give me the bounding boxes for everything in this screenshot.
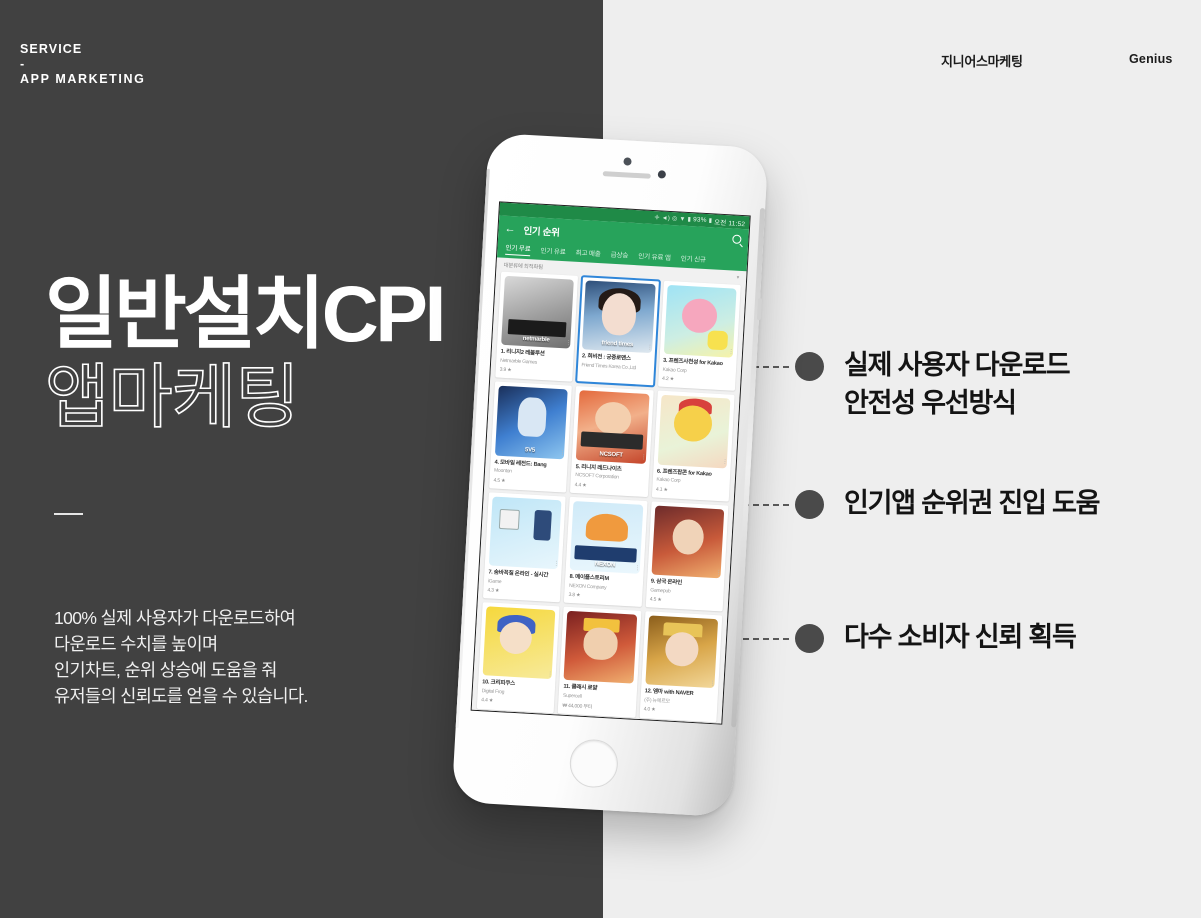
service-sublabel: APP MARKETING — [20, 71, 145, 87]
body-copy-line-4: 유저들의 신뢰도를 얻을 수 있습니다. — [54, 683, 308, 709]
feature-bullet-1-text: 실제 사용자 다운로드 안전성 우선방식 — [844, 346, 1069, 422]
overflow-menu-icon[interactable]: ⋮ — [553, 562, 558, 567]
headline-line-1: 일반설치CPI — [45, 274, 443, 354]
thumbnail-art-shape — [533, 510, 551, 541]
app-thumbnail — [564, 611, 637, 684]
thumbnail-art-shape — [672, 519, 704, 555]
search-icon[interactable] — [732, 234, 741, 243]
thumbnail-art-shape — [581, 431, 643, 450]
page-title: 일반설치CPI 앱마케팅 — [45, 274, 443, 436]
overflow-menu-icon[interactable]: ⋮ — [722, 460, 727, 465]
feature-bullet-2-line-1: 인기앱 순위권 진입 도움 — [844, 484, 1099, 522]
app-card[interactable]: netmarble⋮1. 리니지2 레볼루션Netmarble Games3.9… — [495, 272, 578, 382]
brand-name-korean: 지니어스마케팅 — [941, 51, 1023, 70]
app-card[interactable]: ⋮10. 크리피쿠스Digital Frog4.4 ★ — [477, 602, 560, 713]
tab-1[interactable]: 인기 유료 — [540, 245, 566, 258]
app-thumbnail: NCSOFT — [576, 391, 649, 464]
app-card[interactable]: friend times⋮2. 희비전 : 궁중로맨스Friend Times … — [576, 276, 659, 386]
bullet-dot-icon — [795, 352, 824, 381]
thumbnail-art-shape — [586, 513, 629, 543]
app-rating: ₩ 44,000 부터 — [562, 702, 632, 713]
chevron-down-icon[interactable]: ▾ — [737, 275, 740, 281]
app-rating: 4.3 ★ — [487, 587, 557, 597]
bullet-dot-icon — [795, 624, 824, 653]
app-rating: 4.0 ★ — [643, 707, 713, 717]
app-card[interactable]: ⋮12. 엠마 with NAVER(주) 뉴에르모4.0 ★ — [639, 611, 722, 722]
thumbnail-art-shape — [681, 298, 717, 333]
app-thumbnail: netmarble — [501, 276, 574, 349]
back-arrow-icon[interactable]: ← — [504, 223, 516, 235]
headline-line-2: 앱마케팅 — [45, 358, 443, 436]
app-card[interactable]: ⋮11. 클래시 로얄Supercell₩ 44,000 부터 — [558, 607, 641, 718]
overflow-menu-icon[interactable]: ⋮ — [634, 566, 639, 571]
alarm-icon: ◎ — [672, 215, 678, 222]
app-thumbnail — [489, 496, 562, 569]
feature-bullet-1-line-2: 안전성 우선방식 — [844, 384, 1069, 422]
overflow-menu-icon[interactable]: ⋮ — [728, 350, 733, 355]
app-thumbnail: friend times — [582, 280, 655, 353]
status-time: 오전 11:52 — [714, 216, 746, 228]
body-copy: 100% 실제 사용자가 다운로드하여 다운로드 수치를 높이며 인기차트, 순… — [54, 605, 308, 709]
bluetooth-icon: ✛ — [654, 214, 660, 221]
overflow-menu-icon[interactable]: ⋮ — [716, 571, 721, 576]
tab-2[interactable]: 최고 매출 — [575, 247, 601, 260]
app-thumbnail: 5V5 — [495, 386, 568, 459]
slide-root: SERVICE - APP MARKETING 지니어스마케팅 Genius 일… — [0, 0, 1201, 918]
overflow-menu-icon[interactable]: ⋮ — [628, 677, 633, 682]
app-rating: 4.1 ★ — [656, 486, 726, 496]
feature-bullet-1-line-1: 실제 사용자 다운로드 — [844, 346, 1069, 384]
app-thumbnail — [483, 606, 556, 679]
body-copy-line-1: 100% 실제 사용자가 다운로드하여 — [54, 605, 308, 631]
app-rating: 4.4 ★ — [481, 698, 551, 708]
overflow-menu-icon[interactable]: ⋮ — [547, 672, 552, 677]
service-divider: - — [20, 57, 145, 71]
phone-mockup: ✛ ◄) ◎ ▼ ▮ 93% ▮ 오전 11:52 ← 인기 순위 인기 무료인… — [452, 133, 769, 818]
thumbnail-art-shape — [601, 292, 637, 335]
app-card[interactable]: NEXON⋮8. 메이플스토리MNEXON Company3.8 ★ — [564, 496, 647, 606]
app-thumbnail — [651, 505, 724, 578]
thumbnail-art-shape — [583, 627, 618, 661]
app-thumbnail — [657, 395, 730, 468]
tab-3[interactable]: 급상승 — [610, 249, 628, 262]
app-ranking-grid: netmarble⋮1. 리니지2 레볼루션Netmarble Games3.9… — [471, 270, 745, 724]
service-label-block: SERVICE - APP MARKETING — [20, 41, 145, 87]
thumbnail-logo-text: NCSOFT — [576, 450, 646, 460]
app-rating: 4.4 ★ — [575, 482, 645, 492]
overflow-menu-icon[interactable]: ⋮ — [559, 451, 564, 456]
app-thumbnail: NEXON — [570, 501, 643, 574]
app-rating: 4.2 ★ — [662, 376, 732, 386]
app-bar-title: 인기 순위 — [523, 223, 560, 239]
tab-0[interactable]: 인기 무료 — [505, 242, 531, 256]
overflow-menu-icon[interactable]: ⋮ — [647, 346, 652, 351]
thumbnail-logo-text: friend times — [583, 339, 653, 349]
overflow-menu-icon[interactable]: ⋮ — [640, 456, 645, 461]
app-card[interactable]: ⋮7. 숨바꼭질 온라인 - 실시간iGame4.3 ★ — [483, 492, 566, 602]
battery-icon: ▮ — [708, 217, 712, 224]
service-label: SERVICE — [20, 41, 145, 57]
app-rating: 4.5 ★ — [493, 477, 563, 487]
thumbnail-art-shape — [594, 401, 632, 436]
tab-4[interactable]: 인기 유료 앱 — [638, 250, 671, 264]
subcategory-label: 대분류에 최적화됨 — [503, 261, 543, 271]
signal-icon: ▮ — [687, 216, 691, 223]
thumbnail-logo-text: 5V5 — [495, 445, 565, 455]
body-copy-line-2: 다운로드 수치를 높이며 — [54, 631, 308, 657]
feature-bullet-3-text: 다수 소비자 신뢰 획득 — [844, 618, 1076, 656]
app-card[interactable]: ⋮6. 프렌즈팝콘 for KakaoKakao Corp4.1 ★ — [651, 391, 734, 501]
thumbnail-art-shape — [707, 330, 729, 351]
tab-5[interactable]: 인기 신규 — [680, 253, 706, 266]
phone-screen: ✛ ◄) ◎ ▼ ▮ 93% ▮ 오전 11:52 ← 인기 순위 인기 무료인… — [471, 201, 751, 724]
thumbnail-art-shape — [517, 397, 547, 437]
brand-name-english: Genius — [1129, 52, 1173, 66]
app-thumbnail — [645, 615, 718, 688]
app-card[interactable]: 5V5⋮4. 모바일 레전드: BangMoonton4.5 ★ — [489, 382, 572, 492]
app-thumbnail — [663, 285, 736, 358]
app-card[interactable]: ⋮9. 삼국 온라인Gamepub4.5 ★ — [645, 501, 728, 611]
app-rating: 3.8 ★ — [568, 592, 638, 602]
title-divider-rule — [54, 513, 83, 515]
thumbnail-art-shape — [499, 509, 519, 529]
battery-percent: 93% — [693, 216, 707, 224]
overflow-menu-icon[interactable]: ⋮ — [565, 341, 570, 346]
overflow-menu-icon[interactable]: ⋮ — [709, 681, 714, 686]
wifi-icon: ▼ — [679, 216, 685, 222]
feature-bullet-2-text: 인기앱 순위권 진입 도움 — [844, 484, 1099, 522]
body-copy-line-3: 인기차트, 순위 상승에 도움을 줘 — [54, 657, 308, 683]
app-rating: 3.9 ★ — [500, 367, 570, 377]
bullet-dot-icon — [795, 490, 824, 519]
feature-bullet-3-line-1: 다수 소비자 신뢰 획득 — [844, 618, 1076, 656]
volume-icon: ◄) — [662, 215, 671, 221]
thumbnail-art-shape — [664, 632, 699, 667]
app-card[interactable]: NCSOFT⋮5. 리니지 레드나이츠NCSOFT Corporation4.4… — [570, 386, 653, 496]
app-rating: 4.5 ★ — [650, 596, 720, 606]
app-card[interactable]: ⋮3. 프렌즈사천성 for KakaoKakao Corp4.2 ★ — [658, 281, 741, 391]
